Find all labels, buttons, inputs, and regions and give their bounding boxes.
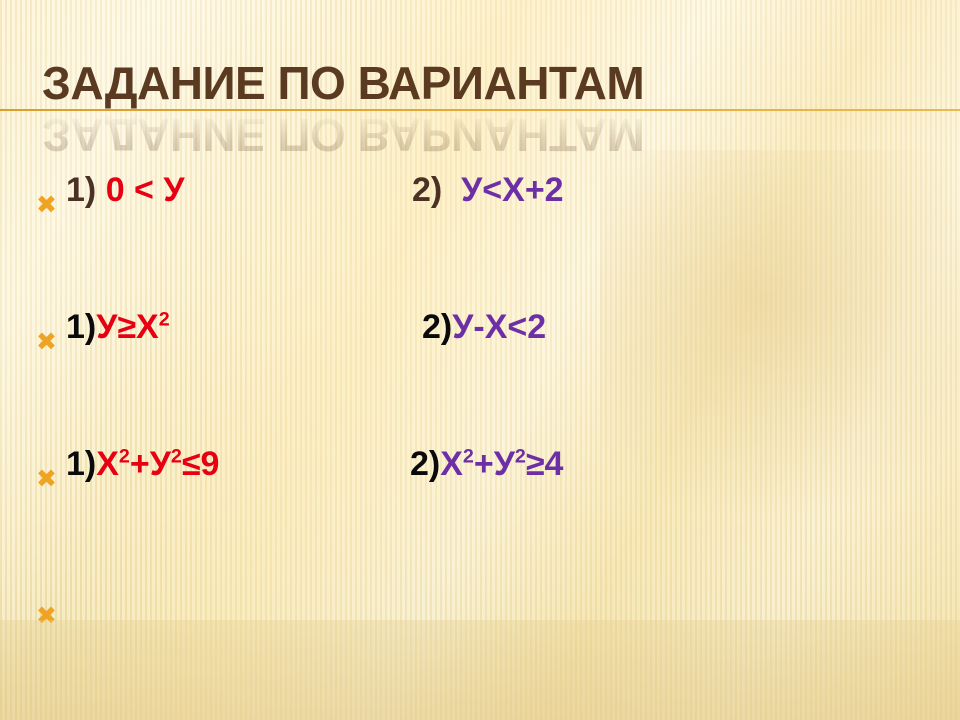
bullet-x-icon: ✖ <box>36 192 66 217</box>
list-item-content-empty <box>66 579 926 627</box>
variant-2-formula: Х2+У2≥4 <box>440 445 563 483</box>
formula-mid: +У <box>474 445 515 483</box>
list-item: ✖ 1)У≥Х2 2)У-Х<2 <box>36 305 926 353</box>
variant-2-expression: 2) У<Х+2 <box>412 168 564 212</box>
formula-exponent: 2 <box>119 446 130 468</box>
formula-base: У≥Х <box>96 308 159 346</box>
bullet-x-icon: ✖ <box>36 603 66 628</box>
bullet-x-icon: ✖ <box>36 329 66 354</box>
variant-2-formula: У<Х+2 <box>461 171 563 209</box>
variant-1-label: 1) <box>66 171 96 209</box>
variant-1-formula: 0 < У <box>106 171 185 209</box>
variant-1-label: 1) <box>66 445 96 483</box>
list-item-content: 1) 0 < У 2) У<Х+2 <box>66 168 926 216</box>
variant-2-expression: 2)У-Х<2 <box>422 305 546 349</box>
variant-1-expression: 1) 0 < У <box>66 168 185 212</box>
variant-2-expression: 2)Х2+У2≥4 <box>410 442 563 486</box>
formula-tail: ≤9 <box>182 445 220 483</box>
bullet-x-icon: ✖ <box>36 466 66 491</box>
formula-exponent: 2 <box>463 446 474 468</box>
task-list: ✖ 1) 0 < У 2) У<Х+2 ✖ 1)У≥Х2 2)У-Х<2 ✖ 1… <box>36 168 926 619</box>
variant-1-formula: Х2+У2≤9 <box>96 445 219 483</box>
formula-mid: +У <box>130 445 171 483</box>
list-item-content: 1)У≥Х2 2)У-Х<2 <box>66 305 926 353</box>
variant-2-label: 2) <box>422 308 452 346</box>
formula-exponent: 2 <box>159 309 170 331</box>
list-item-content: 1)Х2+У2≤9 2)Х2+У2≥4 <box>66 442 926 490</box>
variant-1-expression: 1)У≥Х2 <box>66 305 170 349</box>
formula-exponent-2: 2 <box>515 446 526 468</box>
list-item-empty: ✖ <box>36 579 926 619</box>
variant-1-expression: 1)Х2+У2≤9 <box>66 442 219 486</box>
variant-2-label: 2) <box>412 171 442 209</box>
variant-2-formula: У-Х<2 <box>452 308 546 346</box>
formula-exponent-2: 2 <box>171 446 182 468</box>
variant-1-label: 1) <box>66 308 96 346</box>
page-title: ЗАДАНИЕ ПО ВАРИАНТАМ <box>42 58 942 108</box>
list-item: ✖ 1)Х2+У2≤9 2)Х2+У2≥4 <box>36 442 926 490</box>
variant-1-formula: У≥Х2 <box>96 308 169 346</box>
list-item: ✖ 1) 0 < У 2) У<Х+2 <box>36 168 926 216</box>
slide-canvas: ЗАДАНИЕ ПО ВАРИАНТАМ ЗАДАНИЕ ПО ВАРИАНТА… <box>0 0 960 720</box>
title-block: ЗАДАНИЕ ПО ВАРИАНТАМ ЗАДАНИЕ ПО ВАРИАНТА… <box>42 58 942 154</box>
page-title-reflection: ЗАДАНИЕ ПО ВАРИАНТАМ <box>42 110 644 160</box>
formula-tail: ≥4 <box>526 445 564 483</box>
formula-base: Х <box>96 445 119 483</box>
variant-2-label: 2) <box>410 445 440 483</box>
formula-base: Х <box>440 445 463 483</box>
